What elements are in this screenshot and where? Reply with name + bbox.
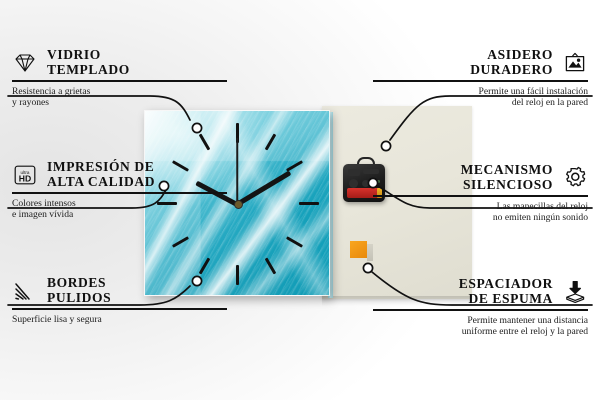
callout-title-line1: MECANISMO — [461, 163, 553, 178]
clock-second-hand — [236, 138, 238, 204]
foam-spacer — [350, 241, 367, 258]
callout-bordes-pulidos: BORDES PULIDOS Superficie lisa y segura — [12, 276, 227, 325]
callout-title-line1: IMPRESIÓN DE — [47, 160, 155, 175]
picture-frame-hanger-icon — [562, 50, 588, 76]
mechanism-detail-d — [362, 180, 369, 187]
callout-title-line1: BORDES — [47, 276, 111, 291]
infographic-canvas: VIDRIO TEMPLADO Resistencia a grietas y … — [0, 0, 600, 400]
callout-desc-line2: e imagen vívida — [12, 209, 227, 221]
mechanism-detail-c — [349, 179, 358, 188]
callout-title-line2: ALTA CALIDAD — [47, 175, 155, 190]
callout-desc-line2: uniforme entre el reloj y la pared — [373, 326, 588, 338]
callout-asidero-duradero: ASIDERO DURADERO Permite una fácil insta… — [373, 48, 588, 109]
foam-spacer-shadow — [367, 244, 373, 261]
callout-desc-line1: Permite una fácil instalación — [373, 86, 588, 98]
callout-desc-line1: Permite mantener una distancia — [373, 315, 588, 327]
callout-divider — [12, 192, 227, 194]
callout-title-line1: VIDRIO — [47, 48, 130, 63]
callout-divider — [12, 308, 227, 310]
callout-espaciador-de-espuma: ESPACIADOR DE ESPUMA Permite mantener un… — [373, 277, 588, 338]
callout-divider — [12, 80, 227, 82]
callout-desc-line1: Las manecillas del reloj — [373, 201, 588, 213]
callout-title-line2: TEMPLADO — [47, 63, 130, 78]
foam-spacer-arrow-icon — [562, 279, 588, 305]
callout-title-line2: DE ESPUMA — [459, 292, 553, 307]
callout-desc-line1: Superficie lisa y segura — [12, 314, 227, 326]
svg-text:HD: HD — [19, 173, 31, 183]
clock-tick-6 — [236, 265, 239, 285]
callout-desc-line2: no emiten ningún sonido — [373, 212, 588, 224]
callout-title-line1: ESPACIADOR — [459, 277, 553, 292]
callout-desc-line2: y rayones — [12, 97, 227, 109]
clock-tick-3 — [299, 202, 319, 205]
callout-divider — [373, 309, 588, 311]
callout-title-line2: DURADERO — [470, 63, 553, 78]
callout-vidrio-templado: VIDRIO TEMPLADO Resistencia a grietas y … — [12, 48, 227, 109]
ultra-hd-badge-icon: ultra HD — [12, 162, 38, 188]
callout-title-line2: SILENCIOSO — [461, 178, 553, 193]
callout-title-line2: PULIDOS — [47, 291, 111, 306]
callout-divider — [373, 80, 588, 82]
callout-impresion-alta-calidad: ultra HD IMPRESIÓN DE ALTA CALIDAD Color… — [12, 160, 227, 221]
mechanism-detail-a — [348, 169, 360, 176]
polished-edges-icon — [12, 278, 38, 304]
callout-desc-line2: del reloj en la pared — [373, 97, 588, 109]
clock-center-pivot — [234, 200, 243, 209]
callout-mecanismo-silencioso: MECANISMO SILENCIOSO Las manecillas del … — [373, 163, 588, 224]
callout-desc-line1: Colores intensos — [12, 198, 227, 210]
callout-divider — [373, 195, 588, 197]
callout-desc-line1: Resistencia a grietas — [12, 86, 227, 98]
callout-title-line1: ASIDERO — [470, 48, 553, 63]
diamond-icon — [12, 50, 38, 76]
gear-icon — [562, 165, 588, 191]
